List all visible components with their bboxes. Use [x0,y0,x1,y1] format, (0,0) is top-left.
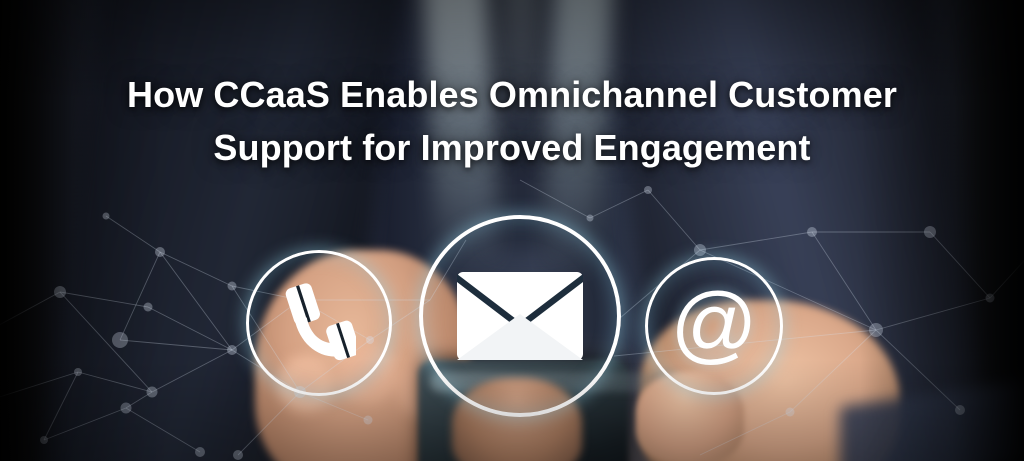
page-title: How CCaaS Enables Omnichannel Customer S… [0,68,1024,175]
email-channel-ring[interactable] [419,215,621,417]
phone-handset-icon [282,277,356,369]
at-channel-ring[interactable]: @ [645,257,783,395]
envelope-icon [457,272,583,360]
hero-banner: @ How CCaaS Enables Omnichannel Customer… [0,0,1024,461]
phone-channel-ring[interactable] [246,250,392,396]
at-sign-glyph: @ [670,281,757,367]
